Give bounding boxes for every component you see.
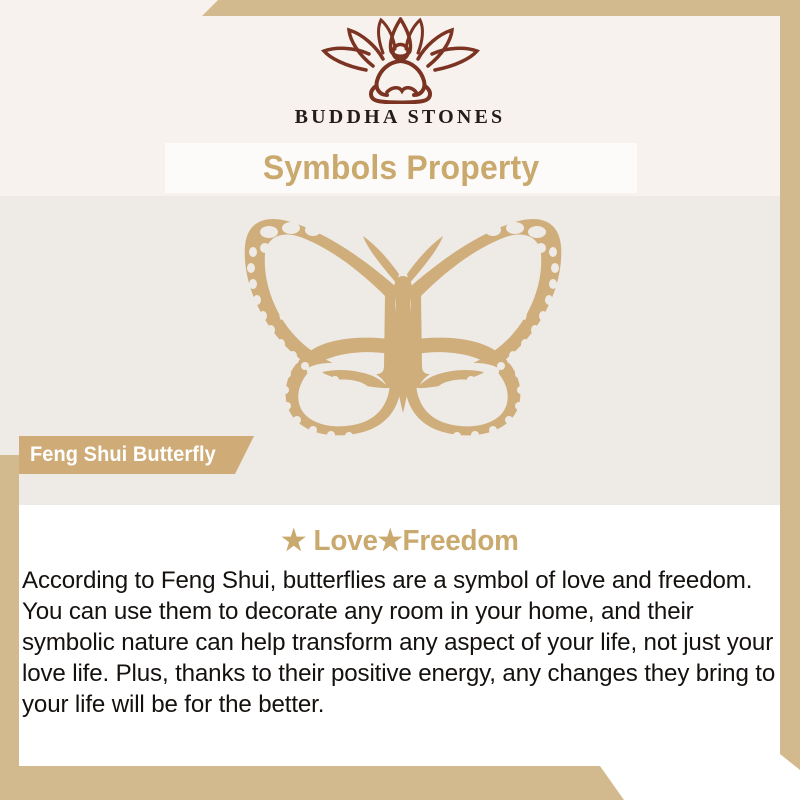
frame-left-bar bbox=[0, 455, 19, 800]
content-paragraph: According to Feng Shui, butterflies are … bbox=[22, 565, 780, 720]
brand-logo: BUDDHA STONES bbox=[0, 16, 800, 129]
hero-section: Feng Shui Butterfly bbox=[0, 196, 800, 505]
feng-shui-tag-label: Feng Shui Butterfly bbox=[30, 443, 216, 467]
header-section: BUDDHA STONES Symbols Property bbox=[0, 0, 800, 196]
page-root: BUDDHA STONES Symbols Property bbox=[0, 0, 800, 800]
content-subtitle: ★ Love★Freedom bbox=[37, 523, 763, 558]
page-title: Symbols Property bbox=[263, 149, 540, 188]
feng-shui-tag: Feng Shui Butterfly bbox=[19, 436, 254, 474]
lotus-meditation-figure-icon bbox=[313, 16, 488, 104]
brand-name: BUDDHA STONES bbox=[295, 106, 506, 129]
frame-right-bar bbox=[780, 0, 800, 800]
page-title-band: Symbols Property bbox=[165, 143, 637, 193]
description-section: ★ Love★Freedom According to Feng Shui, b… bbox=[0, 505, 800, 800]
butterfly-icon bbox=[225, 208, 581, 438]
